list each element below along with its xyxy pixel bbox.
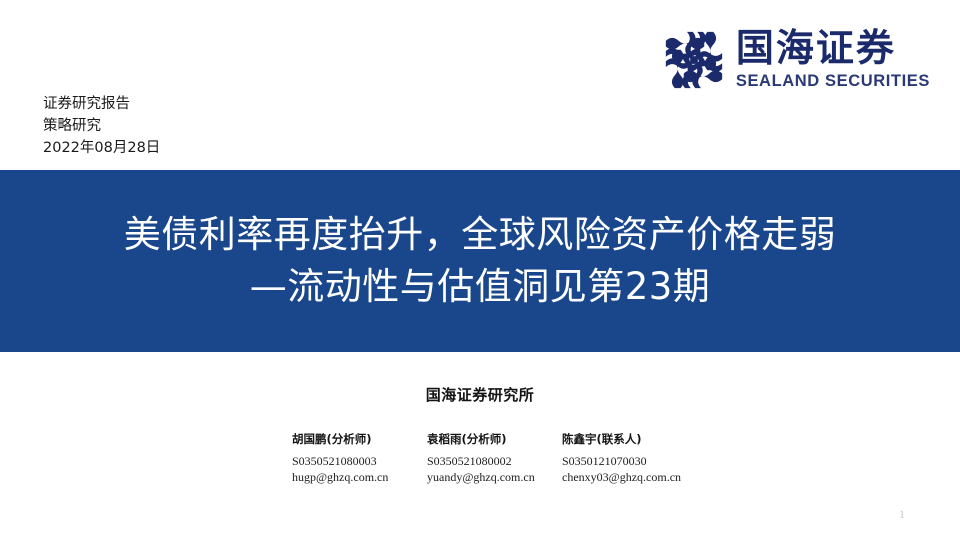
brand-name-cn: 国海证券 <box>736 29 896 67</box>
title-banner: 美债利率再度抬升，全球风险资产价格走弱 —流动性与估值洞见第23期 <box>0 170 960 352</box>
analyst-email[interactable]: yuandy@ghzq.com.cn <box>427 469 562 485</box>
brand-logo-wordmark: 国海证券 SEALAND SECURITIES <box>736 29 930 91</box>
analyst-license-code: S0350521080002 <box>427 453 562 469</box>
page-number: 1 <box>899 507 905 522</box>
report-title-line-1: 美债利率再度抬升，全球风险资产价格走弱 <box>124 210 837 260</box>
report-type-label: 证券研究报告 <box>43 93 160 115</box>
analyst-column: 袁稻雨(分析师) S0350521080002 yuandy@ghzq.com.… <box>427 432 562 485</box>
research-line-label: 策略研究 <box>43 115 160 137</box>
report-meta: 证券研究报告 策略研究 2022年08月28日 <box>43 93 160 159</box>
analyst-name: 袁稻雨(分析师) <box>427 432 562 447</box>
analyst-email[interactable]: chenxy03@ghzq.com.cn <box>562 469 697 485</box>
analyst-name: 陈鑫宇(联系人) <box>562 432 697 447</box>
analyst-column: 陈鑫宇(联系人) S0350121070030 chenxy03@ghzq.co… <box>562 432 697 485</box>
brand-name-en: SEALAND SECURITIES <box>736 72 930 91</box>
analyst-list: 胡国鹏(分析师) S0350521080003 hugp@ghzq.com.cn… <box>292 432 697 485</box>
report-date: 2022年08月28日 <box>43 137 160 159</box>
analyst-column: 胡国鹏(分析师) S0350521080003 hugp@ghzq.com.cn <box>292 432 427 485</box>
report-cover-slide: 国海证券 SEALAND SECURITIES 证券研究报告 策略研究 2022… <box>0 0 960 540</box>
analyst-license-code: S0350521080003 <box>292 453 427 469</box>
sealand-wave-logo-icon <box>662 28 726 92</box>
report-title-line-2: —流动性与估值洞见第23期 <box>250 262 711 312</box>
analyst-email[interactable]: hugp@ghzq.com.cn <box>292 469 427 485</box>
brand-logo: 国海证券 SEALAND SECURITIES <box>662 28 930 92</box>
institute-name: 国海证券研究所 <box>0 384 960 405</box>
analyst-name: 胡国鹏(分析师) <box>292 432 427 447</box>
analyst-license-code: S0350121070030 <box>562 453 697 469</box>
